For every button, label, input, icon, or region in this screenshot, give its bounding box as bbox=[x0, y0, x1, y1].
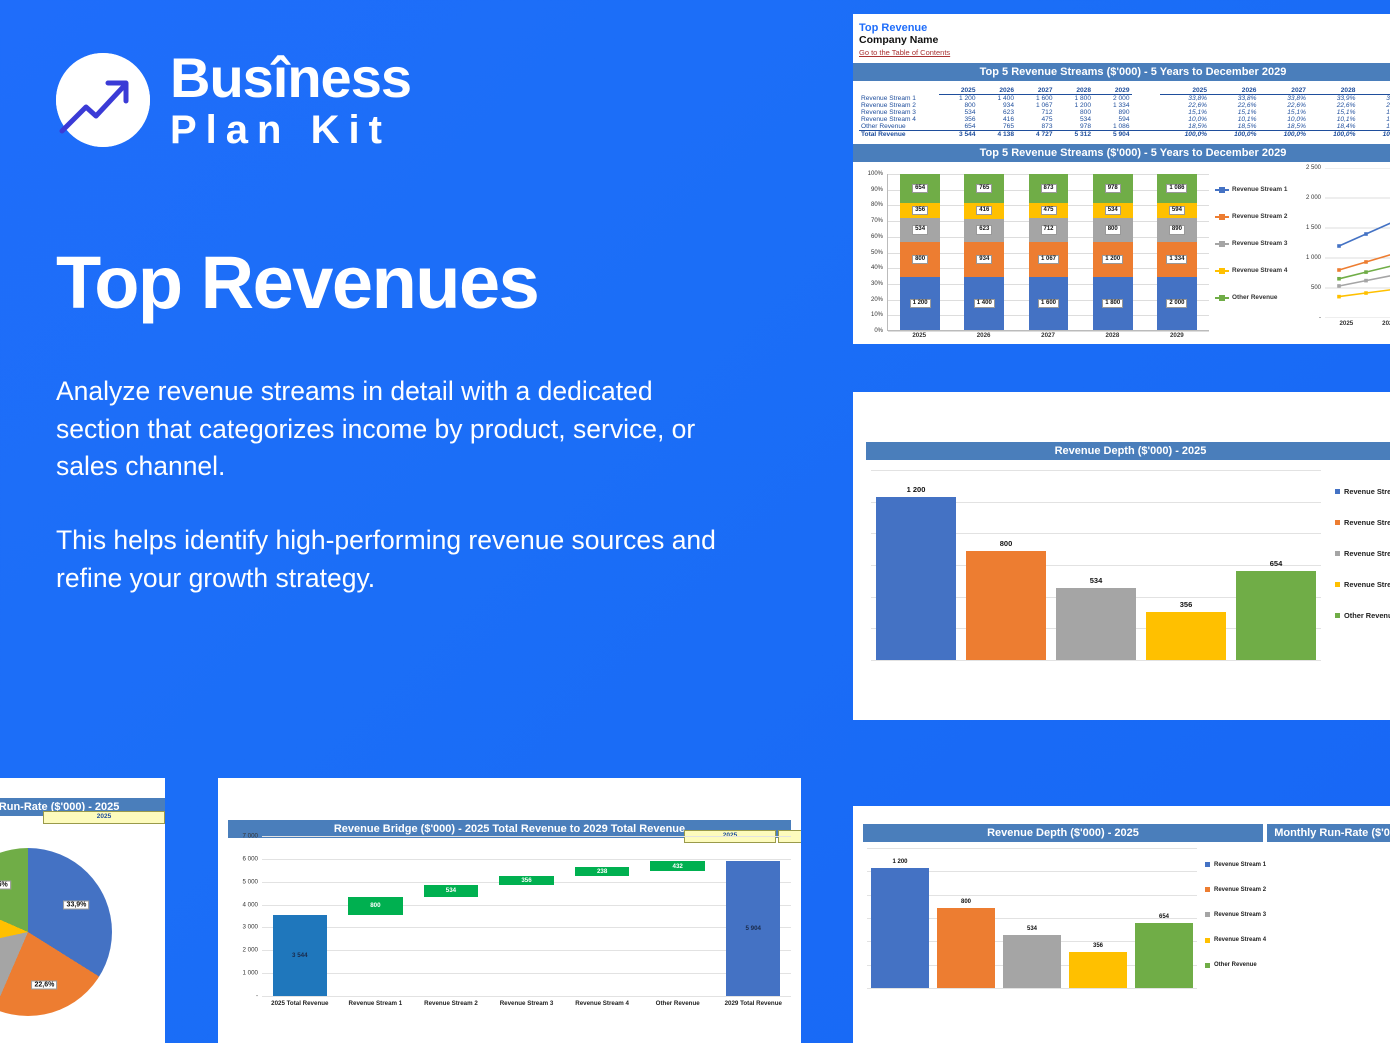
legend-item: Other Revenue bbox=[1205, 953, 1266, 978]
legend-label: Revenue Stream 3 bbox=[1344, 549, 1390, 558]
bar-column: 654 bbox=[1231, 470, 1321, 660]
legend-item: Revenue Stream 2 bbox=[1215, 203, 1301, 230]
legend-item: Revenue Stream 4 bbox=[1215, 257, 1301, 284]
x-tick-label: Revenue Stream 4 bbox=[564, 1000, 640, 1007]
legend-label: Revenue Stream 4 bbox=[1214, 937, 1266, 943]
legend-item: Revenue Stream 3 bbox=[1205, 902, 1266, 927]
legend-marker bbox=[1215, 216, 1229, 218]
bar bbox=[1146, 612, 1225, 660]
brand-name-line2: Plan Kit bbox=[170, 110, 411, 150]
section-title-banner: Top 5 Revenue Streams ($'000) - 5 Years … bbox=[853, 63, 1390, 81]
revenue-depth-bars: 1 200800534356654 bbox=[871, 470, 1321, 660]
waterfall-column: 238 bbox=[564, 836, 640, 996]
legend-marker bbox=[1215, 270, 1229, 272]
stacked-bar-column: 8734757121 0671 600 bbox=[1016, 174, 1080, 330]
legend-swatch bbox=[1335, 489, 1340, 494]
pie-slice-label: 22,6% bbox=[32, 980, 58, 989]
hero-paragraph-2: This helps identify high-performing reve… bbox=[56, 522, 736, 597]
x-tick-label: 2027 bbox=[1016, 332, 1080, 339]
legend-label: Revenue Stream 1 bbox=[1344, 487, 1390, 496]
legend-label: Revenue Stream 3 bbox=[1214, 912, 1266, 918]
table-row: Revenue Stream 435641647553459410,0%10,1… bbox=[859, 116, 1390, 123]
x-tick-label: 2026 bbox=[1368, 320, 1390, 327]
panel-top-charts: 100%90%80%70%60%50%40%30%20%10%0% 654356… bbox=[853, 162, 1390, 344]
worksheet-header: Top Revenue Company Name Go to the Table… bbox=[853, 14, 1390, 57]
bar-value-label: 1 086 bbox=[1166, 184, 1187, 194]
legend-item: Revenue Stream 1 bbox=[1205, 852, 1266, 877]
bar bbox=[1056, 588, 1135, 660]
legend-marker bbox=[1215, 297, 1229, 299]
stacked-bar-column: 9785348001 2001 800 bbox=[1081, 174, 1145, 330]
bar bbox=[1003, 935, 1061, 988]
legend-swatch bbox=[1205, 963, 1210, 968]
bar-column: 356 bbox=[1065, 848, 1131, 988]
bar bbox=[966, 551, 1045, 660]
worksheet-panel-top-revenue: Top Revenue Company Name Go to the Table… bbox=[853, 14, 1390, 344]
x-tick-label: 2029 bbox=[1145, 332, 1209, 339]
bar-value-label: 5 904 bbox=[746, 925, 761, 932]
revenue-bridge-panel: Revenue Bridge ($'000) - 2025 Total Reve… bbox=[218, 778, 801, 1043]
x-tick-label: 2025 bbox=[1325, 320, 1368, 327]
growth-chart-arrow-icon bbox=[56, 53, 150, 147]
bar-column: 1 200 bbox=[871, 470, 961, 660]
bar-value-label: 238 bbox=[597, 868, 607, 875]
legend-label: Revenue Stream 3 bbox=[1232, 240, 1287, 247]
waterfall-bar: 800 bbox=[348, 897, 402, 915]
stacked-bar-column: 6543565348001 200 bbox=[888, 174, 952, 330]
x-tick-label: 2029 Total Revenue bbox=[715, 1000, 791, 1007]
bar-value-label: 356 bbox=[521, 877, 531, 884]
legend-label: Revenue Stream 4 bbox=[1232, 267, 1287, 274]
bar-value-label: 765 bbox=[976, 184, 992, 194]
legend-item: Revenue Stream 1 bbox=[1335, 476, 1390, 507]
bar-column: 800 bbox=[933, 848, 999, 988]
x-tick-label: 2026 bbox=[951, 332, 1015, 339]
legend-swatch bbox=[1335, 551, 1340, 556]
page-title: Top Revenues bbox=[56, 240, 786, 325]
stacked-bar-chart: 100%90%80%70%60%50%40%30%20%10%0% 654356… bbox=[859, 174, 1209, 344]
table-row: Revenue Stream 11 2001 4001 6001 8002 00… bbox=[859, 95, 1390, 103]
legend-item: Revenue Stream 1 bbox=[1215, 176, 1301, 203]
bar-column: 800 bbox=[961, 470, 1051, 660]
stacked-chart-plot: 6543565348001 2007654166239341 400873475… bbox=[887, 174, 1209, 331]
legend-swatch bbox=[1335, 582, 1340, 587]
legend-label: Revenue Stream 2 bbox=[1214, 887, 1266, 893]
table-row: Other Revenue6547658739781 08618,5%18,5%… bbox=[859, 123, 1390, 131]
bar-value-label: 800 bbox=[1105, 225, 1121, 235]
revenue-depth-title: Revenue Depth ($'000) - 2025 bbox=[866, 442, 1390, 460]
bar-value-label: 356 bbox=[1141, 600, 1231, 609]
bridge-y-axis: 7 0006 0005 0004 0003 0002 0001 000- bbox=[220, 836, 260, 996]
bar-column: 1 200 bbox=[867, 848, 933, 988]
legend-swatch bbox=[1205, 862, 1210, 867]
bar bbox=[1135, 923, 1193, 988]
pie-left-year-selector[interactable]: 2025 bbox=[43, 811, 165, 824]
hero-section: Busîness Plan Kit Top Revenues Analyze r… bbox=[56, 50, 786, 597]
bar-value-label: 800 bbox=[933, 899, 999, 905]
waterfall-column: 5 904 bbox=[715, 836, 791, 996]
x-tick-label: 2025 Total Revenue bbox=[262, 1000, 338, 1007]
waterfall-bar: 238 bbox=[575, 867, 629, 876]
legend-label: Revenue Stream 2 bbox=[1344, 518, 1390, 527]
legend-label: Other Revenue bbox=[1214, 962, 1257, 968]
legend-item: Revenue Stream 2 bbox=[1205, 877, 1266, 902]
legend-label: Other Revenue bbox=[1344, 611, 1390, 620]
bar-value-label: 800 bbox=[912, 255, 928, 265]
x-tick-label: Other Revenue bbox=[640, 1000, 716, 1007]
brand-name-line1: Busîness bbox=[170, 50, 411, 106]
x-tick-label: 2025 bbox=[887, 332, 951, 339]
legend-item: Other Revenue bbox=[1335, 600, 1390, 631]
monthly-run-rate-small-title: Monthly Run-Rate ($'000) bbox=[1267, 824, 1390, 842]
legend-label: Revenue Stream 4 bbox=[1344, 580, 1390, 589]
legend-item: Revenue Stream 3 bbox=[1215, 230, 1301, 257]
bar-value-label: 800 bbox=[961, 539, 1051, 548]
x-tick-label: 2028 bbox=[1080, 332, 1144, 339]
table-row: Revenue Stream 353462371280089015,1%15,1… bbox=[859, 109, 1390, 116]
bar-value-label: 3 544 bbox=[292, 952, 307, 959]
revenue-streams-table: 2025202620272028202920252026202720282029… bbox=[859, 87, 1390, 138]
legend-swatch bbox=[1205, 938, 1210, 943]
legend-label: Revenue Stream 2 bbox=[1232, 213, 1287, 220]
stacked-chart-bars: 6543565348001 2007654166239341 400873475… bbox=[888, 174, 1209, 330]
bridge-x-axis: 2025 Total RevenueRevenue Stream 1Revenu… bbox=[262, 1000, 791, 1007]
monthly-run-rate-panel-left: Monthly Run-Rate ($'000) - 2025 2025 33,… bbox=[0, 778, 165, 1043]
pie-slice-label: 33,9% bbox=[64, 901, 90, 910]
bar-column: 534 bbox=[1051, 470, 1141, 660]
stacked-chart-x-axis: 20252026202720282029 bbox=[887, 332, 1209, 339]
bar-value-label: 534 bbox=[1051, 576, 1141, 585]
bar-value-label: 534 bbox=[999, 926, 1065, 932]
revenue-depth-panel: Revenue Depth ($'000) - 2025 1 200800534… bbox=[853, 392, 1390, 720]
legend-swatch bbox=[1335, 613, 1340, 618]
bottom-right-dashboard-panel: Revenue Depth ($'000) - 2025 Monthly Run… bbox=[853, 806, 1390, 1043]
bar bbox=[876, 497, 955, 660]
waterfall-bar: 534 bbox=[424, 885, 478, 897]
legend-swatch bbox=[1205, 912, 1210, 917]
waterfall-column: 432 bbox=[640, 836, 716, 996]
pie-left-chart: 33,9%22,6%15,1%10,0%18,5% bbox=[0, 848, 112, 1016]
legend-swatch bbox=[1205, 887, 1210, 892]
bar-value-label: 1 334 bbox=[1166, 255, 1187, 265]
x-tick-label: Revenue Stream 2 bbox=[413, 1000, 489, 1007]
revenue-depth-small-bars: 1 200800534356654 bbox=[867, 848, 1197, 988]
bar-column: 534 bbox=[999, 848, 1065, 988]
bar-value-label: 356 bbox=[912, 206, 928, 216]
waterfall-bar: 5 904 bbox=[726, 861, 780, 996]
legend-item: Revenue Stream 4 bbox=[1205, 928, 1266, 953]
bar-value-label: 1 600 bbox=[1038, 299, 1059, 309]
line-chart: 2 5002 0001 5001 000500- 202520262027 bbox=[1293, 168, 1390, 344]
x-tick-label: Revenue Stream 3 bbox=[489, 1000, 565, 1007]
bar-value-label: 890 bbox=[1169, 225, 1185, 235]
bar-value-label: 534 bbox=[912, 225, 928, 235]
table-row-total: Total Revenue3 5444 1384 7275 3125 90410… bbox=[859, 131, 1390, 139]
bar-value-label: 800 bbox=[370, 902, 380, 909]
bridge-plot: 3 5448005343562384325 904 bbox=[262, 836, 791, 996]
legend-item: Revenue Stream 3 bbox=[1335, 538, 1390, 569]
chart-legend: Revenue Stream 1Revenue Stream 2Revenue … bbox=[1215, 176, 1301, 311]
line-chart-x-axis: 202520262027 bbox=[1325, 320, 1390, 327]
bar-column: 654 bbox=[1131, 848, 1197, 988]
legend-label: Other Revenue bbox=[1232, 294, 1277, 301]
hero-paragraph-1: Analyze revenue streams in detail with a… bbox=[56, 373, 736, 486]
legend-marker bbox=[1215, 243, 1229, 245]
bar bbox=[871, 868, 929, 988]
worksheet-title: Top Revenue bbox=[859, 22, 1390, 34]
bar-value-label: 978 bbox=[1105, 184, 1121, 194]
bar-value-label: 1 200 bbox=[867, 859, 933, 865]
bar-value-label: 1 200 bbox=[871, 485, 961, 494]
bar-column: 356 bbox=[1141, 470, 1231, 660]
table-of-contents-link[interactable]: Go to the Table of Contents bbox=[859, 48, 1390, 57]
bar-value-label: 534 bbox=[446, 887, 456, 894]
bar-value-label: 1 400 bbox=[974, 299, 995, 309]
table-row: Revenue Stream 28009341 0671 2001 33422,… bbox=[859, 102, 1390, 109]
bar-value-label: 475 bbox=[1041, 206, 1057, 216]
bar-value-label: 534 bbox=[1105, 206, 1121, 216]
legend-label: Revenue Stream 1 bbox=[1214, 862, 1266, 868]
legend-marker bbox=[1215, 189, 1229, 191]
bar-value-label: 1 200 bbox=[1102, 255, 1123, 265]
bar-value-label: 432 bbox=[673, 863, 683, 870]
legend-item: Revenue Stream 2 bbox=[1335, 507, 1390, 538]
bar-value-label: 934 bbox=[976, 255, 992, 265]
waterfall-column: 356 bbox=[489, 836, 565, 996]
bar-value-label: 1 067 bbox=[1038, 255, 1059, 265]
pie-slice-label: 18,5% bbox=[0, 881, 11, 890]
revenue-depth-small-plot: 1 200800534356654 bbox=[867, 848, 1197, 988]
bar bbox=[1069, 952, 1127, 988]
bar-value-label: 356 bbox=[1065, 943, 1131, 949]
bar-value-label: 2 000 bbox=[1166, 299, 1187, 309]
legend-swatch bbox=[1335, 520, 1340, 525]
bar-value-label: 623 bbox=[976, 225, 992, 235]
waterfall-bar: 3 544 bbox=[273, 915, 327, 996]
legend-label: Revenue Stream 1 bbox=[1232, 186, 1287, 193]
bar-value-label: 873 bbox=[1041, 184, 1057, 194]
legend-item: Other Revenue bbox=[1215, 284, 1301, 311]
bar bbox=[1236, 571, 1315, 660]
bridge-bars: 3 5448005343562384325 904 bbox=[262, 836, 791, 996]
bar-value-label: 1 200 bbox=[910, 299, 931, 309]
bar bbox=[937, 908, 995, 988]
chart-title-banner: Top 5 Revenue Streams ($'000) - 5 Years … bbox=[853, 144, 1390, 162]
bar-value-label: 1 800 bbox=[1102, 299, 1123, 309]
stacked-chart-y-axis: 100%90%80%70%60%50%40%30%20%10%0% bbox=[859, 174, 885, 331]
waterfall-column: 3 544 bbox=[262, 836, 338, 996]
worksheet-company-name: Company Name bbox=[859, 34, 1390, 46]
revenue-depth-small-legend: Revenue Stream 1Revenue Stream 2Revenue … bbox=[1205, 852, 1266, 978]
revenue-depth-plot: 1 200800534356654 bbox=[871, 470, 1321, 660]
stacked-bar-column: 7654166239341 400 bbox=[952, 174, 1016, 330]
bar-value-label: 416 bbox=[976, 206, 992, 216]
revenue-depth-legend: Revenue Stream 1Revenue Stream 2Revenue … bbox=[1335, 476, 1390, 631]
bar-value-label: 712 bbox=[1041, 225, 1057, 235]
bar-value-label: 654 bbox=[912, 184, 928, 194]
brand-logo: Busîness Plan Kit bbox=[56, 50, 786, 150]
line-chart-plot bbox=[1325, 168, 1390, 318]
waterfall-bar: 356 bbox=[499, 876, 553, 885]
waterfall-column: 534 bbox=[413, 836, 489, 996]
revenue-depth-small-title: Revenue Depth ($'000) - 2025 bbox=[863, 824, 1263, 842]
stacked-bar-column: 1 0865948901 3342 000 bbox=[1145, 174, 1209, 330]
bar-value-label: 654 bbox=[1231, 559, 1321, 568]
waterfall-bar: 432 bbox=[650, 861, 704, 871]
x-tick-label: Revenue Stream 1 bbox=[338, 1000, 414, 1007]
waterfall-column: 800 bbox=[338, 836, 414, 996]
bar-value-label: 654 bbox=[1131, 914, 1197, 920]
bar-value-label: 594 bbox=[1169, 206, 1185, 216]
legend-item: Revenue Stream 4 bbox=[1335, 569, 1390, 600]
line-chart-y-axis: 2 5002 0001 5001 000500- bbox=[1293, 168, 1323, 318]
